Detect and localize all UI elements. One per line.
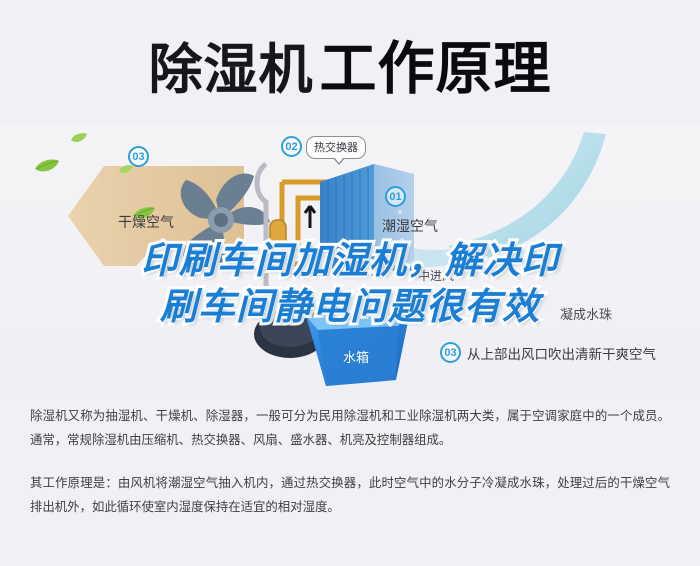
body-paragraph-2: 其工作原理是：由风机将潮湿空气抽入机内，通过热交换器，此时空气中的水分子冷凝成水… — [30, 471, 670, 519]
label-inlet-hidden: 中进风 — [418, 267, 454, 284]
label-dry-air: 干燥空气 — [118, 212, 174, 232]
leaf-icon — [34, 158, 60, 175]
dehumidifier-diagram: 水箱 03 干燥空气 热交换器 02 01 潮湿空气 中进风 凝成水珠 03 从… — [0, 124, 700, 400]
leaf-icon — [118, 164, 134, 176]
svg-text:水箱: 水箱 — [343, 350, 369, 366]
title-part-two: 工作原理 — [320, 23, 552, 105]
step-badge-03: 03 — [128, 146, 149, 167]
step-badge-03-caption: 03 — [440, 342, 461, 363]
step-03-caption-row: 03 从上部出风口吹出清新干爽空气 — [440, 342, 656, 363]
water-tank-icon: 水箱 — [300, 306, 420, 390]
title-text: 除湿机 工作原理 — [149, 23, 552, 105]
page-root: 除湿机 工作原理 — [0, 0, 700, 566]
title-part-one: 除湿机 — [149, 25, 314, 104]
leaf-icon — [70, 132, 88, 145]
body-paragraph-1: 除湿机又称为抽湿机、干燥机、除湿器，一般可分为民用除湿机和工业除湿机两大类，属于… — [30, 404, 670, 452]
page-title: 除湿机 工作原理 — [0, 0, 700, 128]
body-copy: 除湿机又称为抽湿机、干燥机、除湿器，一般可分为民用除湿机和工业除湿机两大类，属于… — [0, 404, 700, 519]
label-humid-air: 潮湿空气 — [382, 216, 438, 236]
label-condensation-hidden: 凝成水珠 — [560, 304, 612, 323]
step-badge-01: 01 — [385, 186, 406, 207]
callout-heat-exchanger: 热交换器 — [306, 136, 366, 159]
step-03-caption: 从上部出风口吹出清新干爽空气 — [467, 343, 656, 363]
step-badge-02: 02 — [281, 136, 302, 157]
